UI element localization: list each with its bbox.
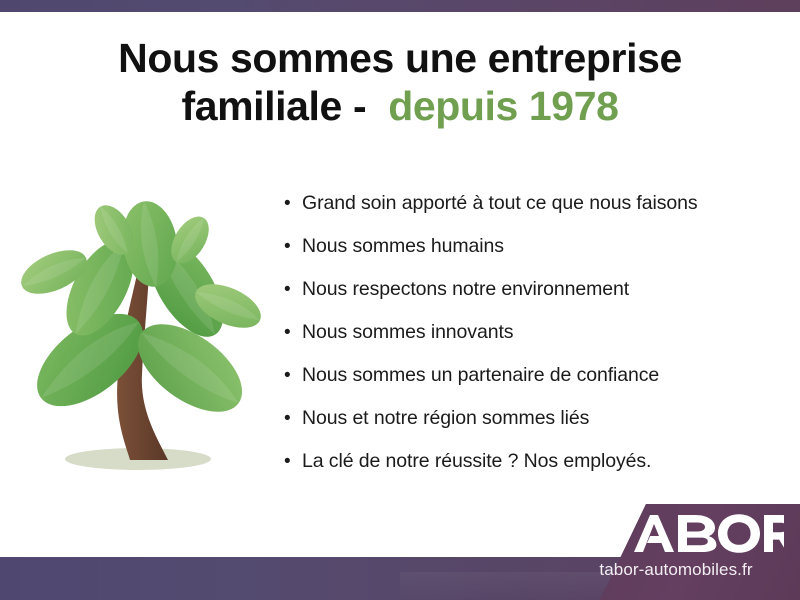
presentation-slide: Nous sommes une entreprise familiale - d… bbox=[0, 0, 800, 600]
list-item-label: La clé de notre réussite ? Nos employés. bbox=[302, 450, 784, 473]
bullet-marker-icon: • bbox=[284, 280, 302, 299]
list-item-label: Grand soin apporté à tout ce que nous fa… bbox=[302, 192, 784, 215]
value-bullet-list: • Grand soin apporté à tout ce que nous … bbox=[284, 192, 784, 493]
page-title-accent: depuis 1978 bbox=[388, 83, 618, 129]
tabor-logo[interactable] bbox=[598, 512, 784, 554]
list-item-label: Nous sommes humains bbox=[302, 235, 784, 258]
bullet-marker-icon: • bbox=[284, 194, 302, 213]
list-item: • Nous sommes humains bbox=[284, 235, 784, 278]
list-item-label: Nous sommes un partenaire de confiance bbox=[302, 364, 784, 387]
list-item: • Grand soin apporté à tout ce que nous … bbox=[284, 192, 784, 235]
list-item: • La clé de notre réussite ? Nos employé… bbox=[284, 450, 784, 493]
list-item: • Nous sommes un partenaire de confiance bbox=[284, 364, 784, 407]
bullet-marker-icon: • bbox=[284, 237, 302, 256]
page-title-line-2-plain: familiale - bbox=[181, 83, 366, 129]
logo-website-url[interactable]: tabor-automobiles.fr bbox=[560, 560, 792, 580]
page-title-line-2: familiale - depuis 1978 bbox=[40, 82, 760, 130]
top-accent-bar bbox=[0, 0, 800, 12]
list-item-label: Nous et notre région sommes liés bbox=[302, 407, 784, 430]
bullet-marker-icon: • bbox=[284, 323, 302, 342]
page-title-line-1: Nous sommes une entreprise bbox=[40, 34, 760, 82]
list-item-label: Nous sommes innovants bbox=[302, 321, 784, 344]
list-item: • Nous sommes innovants bbox=[284, 321, 784, 364]
page-title: Nous sommes une entreprise familiale - d… bbox=[40, 34, 760, 131]
list-item: • Nous respectons notre environnement bbox=[284, 278, 784, 321]
bullet-marker-icon: • bbox=[284, 452, 302, 471]
bullet-marker-icon: • bbox=[284, 366, 302, 385]
bullet-marker-icon: • bbox=[284, 409, 302, 428]
list-item-label: Nous respectons notre environnement bbox=[302, 278, 784, 301]
tree-illustration bbox=[18, 178, 270, 480]
list-item: • Nous et notre région sommes liés bbox=[284, 407, 784, 450]
